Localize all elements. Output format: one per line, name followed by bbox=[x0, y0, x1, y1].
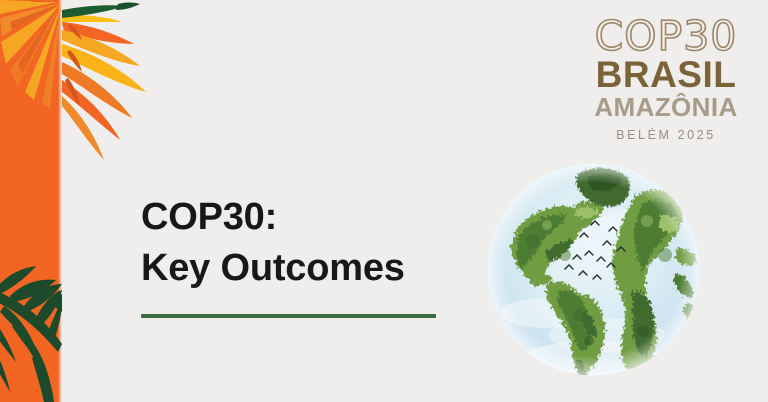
globe-illustration bbox=[487, 163, 700, 376]
globe-rim-highlight bbox=[488, 164, 700, 376]
cop30-logo: COP30 BRASIL AMAZÔNIA BELÉM 2025 bbox=[586, 16, 746, 145]
left-orange-band bbox=[0, 0, 62, 402]
slide-title: COP30: Key Outcomes bbox=[141, 192, 471, 294]
logo-cop30-text: COP30 bbox=[586, 16, 746, 56]
logo-belem-text: BELÉM 2025 bbox=[586, 125, 746, 145]
title-line-1: COP30: bbox=[141, 192, 471, 243]
green-earth-globe-image bbox=[487, 163, 700, 376]
left-band-edge-fade bbox=[58, 0, 62, 402]
slide-canvas: COP30: Key Outcomes COP30 BRASIL AMAZÔNI… bbox=[0, 0, 768, 402]
logo-amazonia-text: AMAZÔNIA bbox=[586, 94, 746, 121]
title-underline-rule bbox=[141, 314, 436, 318]
logo-brasil-text: BRASIL bbox=[586, 56, 746, 94]
title-line-2: Key Outcomes bbox=[141, 243, 471, 294]
